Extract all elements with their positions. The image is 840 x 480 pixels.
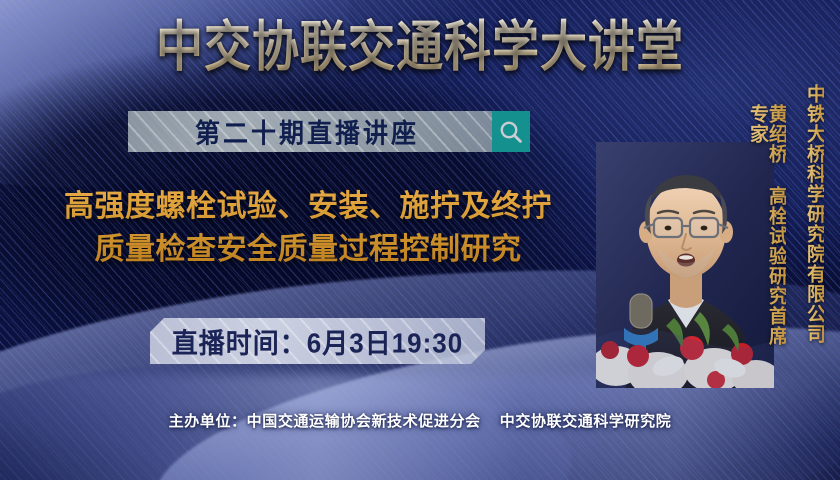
broadcast-time-label: 直播时间：6月3日19:30 [172, 322, 463, 361]
main-title-container: 中交协联交通科学大讲堂 [0, 18, 840, 69]
footer-bar: 主办单位：中国交通运输协会新技术促进分会 中交协联交通科学研究院 [0, 384, 840, 480]
speaker-organization: 中铁大桥科学研究院有限公司 [805, 84, 824, 364]
lecture-topic-line-1: 高强度螺栓试验、安装、施拧及终拧 [8, 186, 608, 229]
broadcast-time-badge: 直播时间：6月3日19:30 [150, 318, 485, 364]
episode-banner: 第二十期直播讲座 [128, 111, 530, 152]
page-title: 中交协联交通科学大讲堂 [156, 18, 684, 77]
poster-canvas: 中交协联交通科学大讲堂 第二十期直播讲座 高强度螺栓试验、安装、施拧及终拧 质量… [0, 0, 840, 480]
episode-banner-bar: 第二十期直播讲座 [128, 111, 492, 152]
search-button[interactable] [492, 111, 530, 152]
lecture-topic-line-2: 质量检查安全质量过程控制研究 [8, 229, 608, 272]
lecture-topic: 高强度螺栓试验、安装、施拧及终拧 质量检查安全质量过程控制研究 [8, 186, 608, 271]
speaker-name-title: 黄绍桥 高栓试验研究首席专家 [748, 104, 786, 364]
episode-label: 第二十期直播讲座 [128, 112, 492, 150]
search-icon [498, 119, 524, 145]
organizers-label: 主办单位：中国交通运输协会新技术促进分会 中交协联交通科学研究院 [169, 410, 672, 431]
